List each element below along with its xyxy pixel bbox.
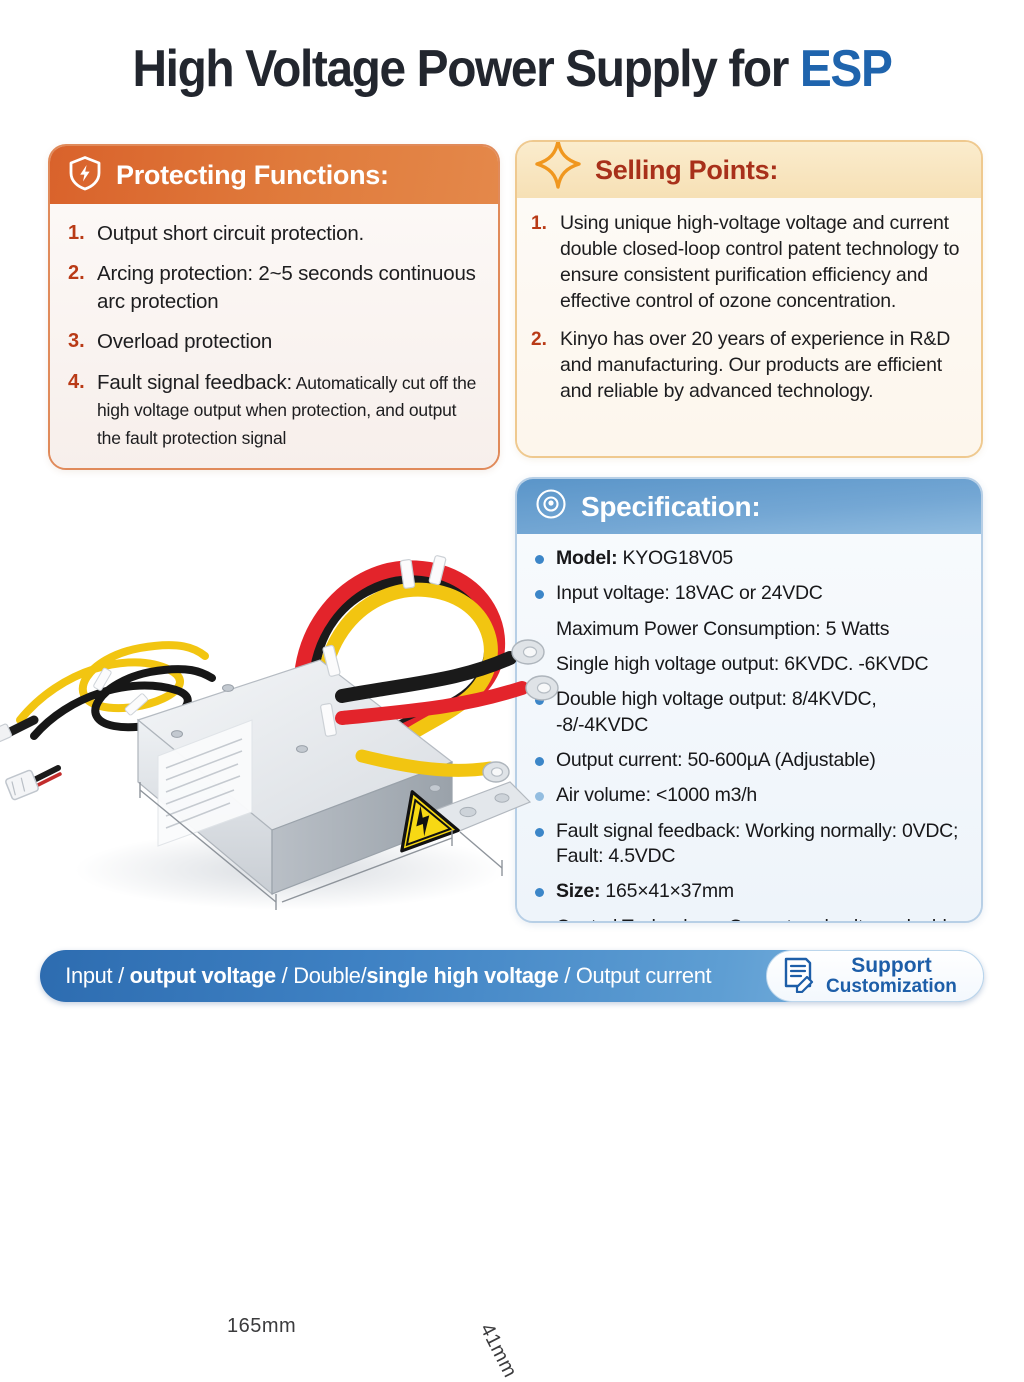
banner-seg-d: single high voltage — [366, 963, 558, 988]
item-text: Using unique high-voltage voltage and cu… — [560, 211, 967, 315]
item-number: 2. — [68, 260, 88, 287]
item-number: 1. — [68, 220, 88, 247]
banner-text: Input / output voltage / Double/single h… — [40, 963, 748, 989]
specification-card: Specification: Model: KYOG18V05 Input vo… — [515, 477, 983, 923]
banner-seg-c: / Double/ — [276, 963, 367, 988]
product-photo: 165mm 41mm — [0, 520, 570, 940]
item-text: Output current: 50-600µA (Adjustable) — [556, 748, 876, 773]
selling-points-card: Selling Points: 1. Using unique high-vol… — [515, 140, 983, 458]
list-item: Single high voltage output: 6KVDC. -6KVD… — [535, 652, 969, 677]
dimension-length-label: 165mm — [227, 1315, 296, 1338]
item-text-rest: KYOG18V05 — [617, 547, 733, 569]
item-text: Input voltage: 18VAC or 24VDC — [556, 581, 823, 606]
list-item: Fault signal feedback: Working normally:… — [535, 819, 969, 870]
support-customization-labels: Support Customization — [826, 955, 957, 997]
support-customization-badge[interactable]: Support Customization — [766, 950, 984, 1002]
list-item: Air volume: <1000 m3/h — [535, 783, 969, 808]
poster-root: High Voltage Power Supply for ESP Protec… — [0, 0, 1024, 1024]
specification-title: Specification: — [581, 491, 760, 523]
dimension-depth-label: 41mm — [475, 1320, 522, 1382]
list-item: Output current: 50-600µA (Adjustable) — [535, 748, 969, 773]
protecting-functions-body: 1. Output short circuit protection. 2. A… — [50, 204, 498, 468]
specification-body: Model: KYOG18V05 Input voltage: 18VAC or… — [517, 534, 981, 921]
sparkle-star-icon — [535, 147, 581, 194]
item-text: Arcing protection: 2~5 seconds continuou… — [97, 260, 484, 315]
selling-points-title: Selling Points: — [595, 155, 778, 186]
item-text: Fault signal feedback: Working normally:… — [556, 819, 969, 870]
item-text: Output short circuit protection. — [97, 220, 364, 247]
banner-seg-a: Input / — [65, 963, 129, 988]
specification-header: Specification: — [517, 479, 981, 534]
title-part-3: for — [728, 40, 800, 98]
item-text-lead: Fault signal feedback: — [97, 371, 292, 394]
shield-bolt-icon — [68, 155, 102, 196]
item-text: Air volume: <1000 m3/h — [556, 783, 757, 808]
page-title: High Voltage Power Supply for ESP — [41, 42, 983, 97]
item-text: Single high voltage output: 6KVDC. -6KVD… — [556, 652, 928, 677]
title-part-2: Power Supply — [417, 40, 729, 98]
item-number: 1. — [531, 211, 551, 236]
item-text-rest: 165×41×37mm — [600, 880, 734, 902]
document-pen-icon — [781, 955, 817, 998]
list-item: 3. Overload protection — [68, 328, 484, 355]
list-item: Size: 165×41×37mm — [535, 879, 969, 904]
item-text: Maximum Power Consumption: 5 Watts — [556, 617, 889, 642]
list-item: 2. Kinyo has over 20 years of experience… — [531, 327, 967, 405]
list-item: Model: KYOG18V05 — [535, 546, 969, 571]
item-text: Double high voltage output: 8/4KVDC, -8/… — [556, 687, 969, 738]
item-text: Size: 165×41×37mm — [556, 879, 734, 904]
item-text: Overload protection — [97, 328, 272, 355]
item-text: Fault signal feedback: Automatically cut… — [97, 369, 484, 451]
specification-list: Model: KYOG18V05 Input voltage: 18VAC or… — [535, 546, 969, 923]
product-illustration — [0, 520, 570, 940]
banner-seg-e: / Output current — [559, 963, 712, 988]
title-part-1: High Voltage — [132, 40, 416, 98]
item-text: Model: KYOG18V05 — [556, 546, 733, 571]
list-item: 1. Output short circuit protection. — [68, 220, 484, 247]
banner-seg-b: output voltage — [130, 963, 276, 988]
item-text: Kinyo has over 20 years of experience in… — [560, 327, 967, 405]
title-accent-esp: ESP — [800, 40, 892, 98]
item-text: Control Technology: Current and voltage … — [556, 915, 969, 923]
list-item: 2. Arcing protection: 2~5 seconds contin… — [68, 260, 484, 315]
list-item: 1. Using unique high-voltage voltage and… — [531, 211, 967, 315]
item-number: 2. — [531, 327, 551, 352]
list-item: 4. Fault signal feedback: Automatically … — [68, 369, 484, 451]
protecting-functions-list: 1. Output short circuit protection. 2. A… — [68, 220, 484, 451]
list-item: Input voltage: 18VAC or 24VDC — [535, 581, 969, 606]
list-item: Double high voltage output: 8/4KVDC, -8/… — [535, 687, 969, 738]
item-number: 4. — [68, 369, 88, 396]
protecting-functions-title: Protecting Functions: — [116, 160, 389, 191]
selling-points-header: Selling Points: — [517, 142, 981, 198]
protecting-functions-card: Protecting Functions: 1. Output short ci… — [48, 144, 500, 470]
bottom-banner: Input / output voltage / Double/single h… — [40, 950, 984, 1002]
list-item: Maximum Power Consumption: 5 Watts — [535, 617, 969, 642]
support-line-1: Support — [826, 955, 957, 977]
selling-points-list: 1. Using unique high-voltage voltage and… — [531, 211, 967, 404]
item-number: 3. — [68, 328, 88, 355]
selling-points-body: 1. Using unique high-voltage voltage and… — [517, 198, 981, 456]
protecting-functions-header: Protecting Functions: — [50, 146, 498, 204]
list-item: Control Technology: Current and voltage … — [535, 915, 969, 923]
support-line-2: Customization — [826, 977, 957, 997]
